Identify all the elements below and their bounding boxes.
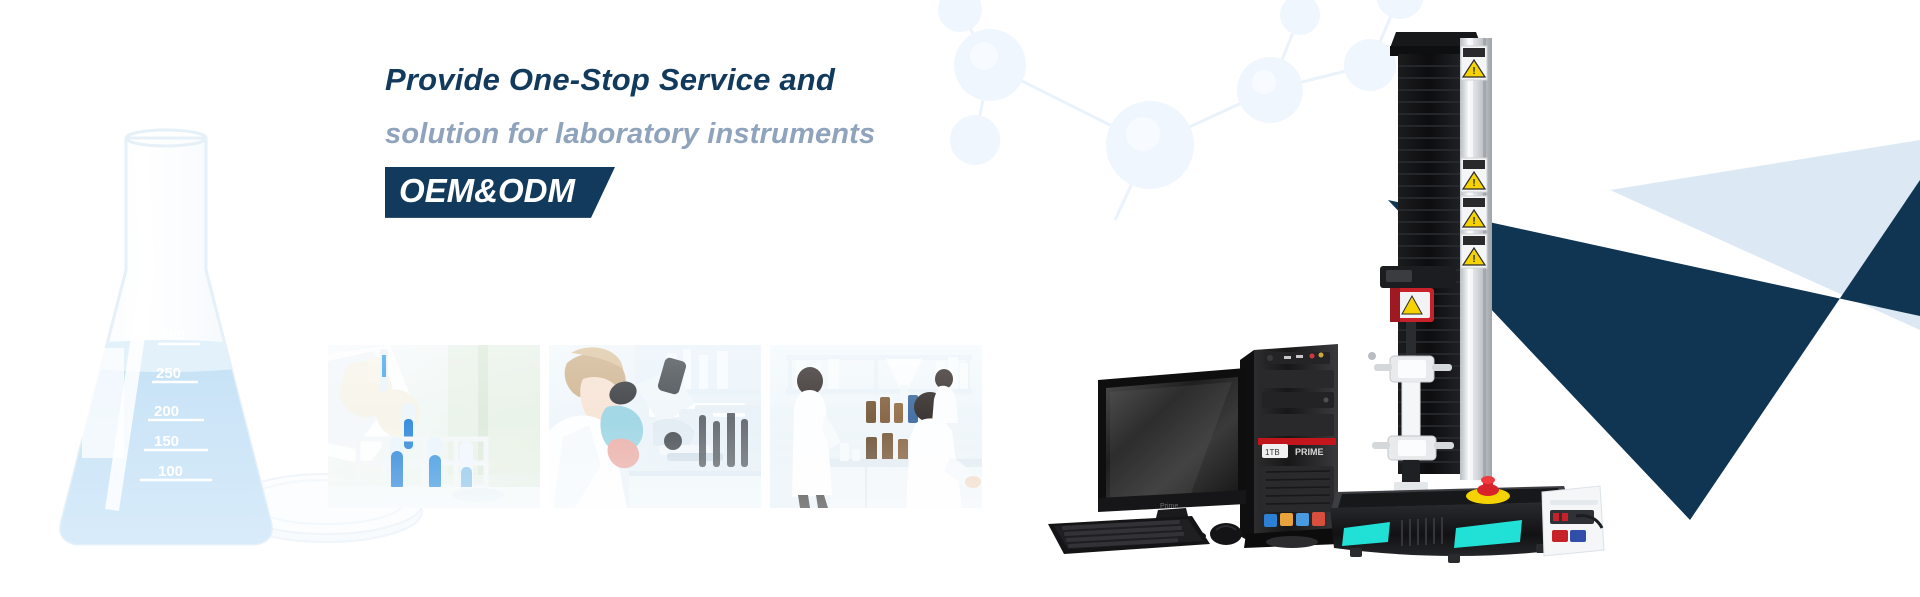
photo-microscope-researcher (549, 345, 761, 508)
lower-grip (1372, 436, 1454, 460)
headline-line-2: solution for laboratory instruments (385, 118, 1085, 151)
lab-photo-strip (328, 345, 982, 508)
upper-grip (1368, 352, 1452, 382)
photo-laboratory-team (770, 345, 982, 508)
emergency-stop-button (1466, 476, 1510, 504)
svg-text:!: ! (1472, 216, 1475, 227)
warning-labels: ! ! ! ! (1461, 46, 1487, 268)
svg-text:1TB: 1TB (1265, 448, 1280, 457)
universal-testing-machine-illustration: ! ! ! ! (1328, 8, 1608, 568)
control-cabinet (1542, 486, 1604, 556)
cyan-accent-right (1454, 520, 1522, 548)
oem-odm-badge: OEM&ODM (385, 167, 615, 218)
svg-text:!: ! (1472, 66, 1475, 77)
computer-monitor: Prime (1098, 368, 1246, 544)
computer-tower: 1TB PRIME (1240, 344, 1340, 548)
computer-keyboard (1048, 516, 1210, 554)
headline-block: Provide One-Stop Service and solution fo… (385, 62, 1085, 218)
svg-text:200: 200 (154, 403, 179, 420)
desktop-computer-illustration: 1TB PRIME (1040, 338, 1370, 568)
svg-text:300: 300 (160, 327, 185, 344)
flask-graduations: 300 250 200 150 100 (140, 327, 212, 480)
svg-text:150: 150 (154, 433, 179, 450)
svg-text:!: ! (1472, 254, 1475, 265)
svg-text:100: 100 (158, 463, 183, 480)
computer-mouse (1210, 523, 1242, 545)
oem-odm-badge-wrap: OEM&ODM (385, 167, 615, 218)
headline-line-1: Provide One-Stop Service and (385, 62, 1085, 98)
svg-text:!: ! (1472, 178, 1475, 189)
cyan-accent-left (1342, 522, 1390, 546)
svg-text:250: 250 (156, 365, 181, 382)
promo-banner: 300 250 200 150 100 Provide One-Stop Ser… (0, 0, 1920, 597)
photo-pipetting-test-tubes (328, 345, 540, 508)
svg-text:Prime: Prime (1160, 503, 1178, 510)
triangle-light (1610, 140, 1920, 330)
svg-text:PRIME: PRIME (1295, 447, 1324, 457)
triangle-dark (1388, 180, 1920, 520)
decorative-triangles (1360, 0, 1920, 597)
